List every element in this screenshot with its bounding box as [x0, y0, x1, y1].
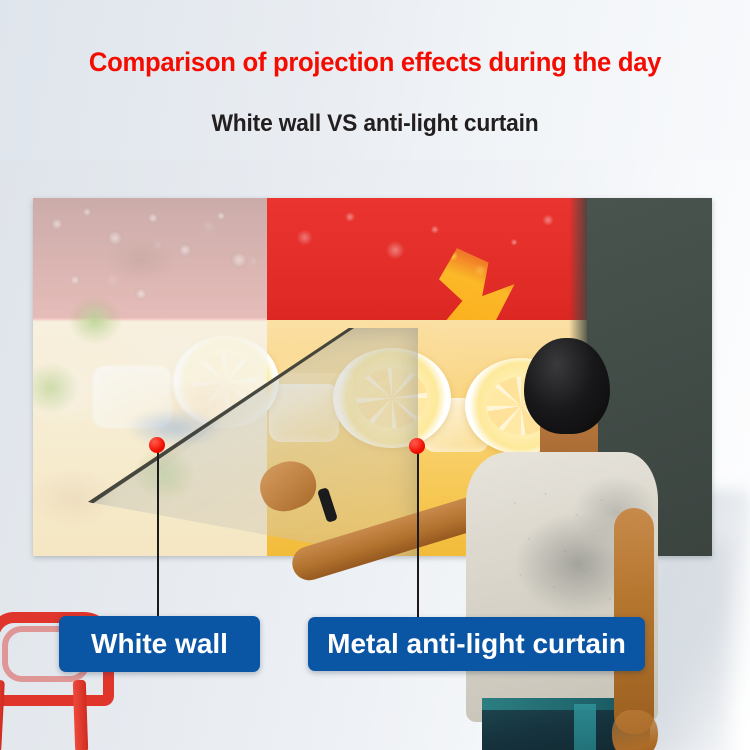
callout-metal-anti-light-curtain[interactable]: Metal anti-light curtain [308, 617, 645, 671]
leader-line-white-wall [157, 450, 159, 622]
marker-dot-white-wall [149, 437, 165, 453]
page-title: Comparison of projection effects during … [19, 47, 732, 78]
person-figure [398, 312, 658, 750]
chair-leg [0, 680, 5, 750]
callout-white-wall[interactable]: White wall [59, 616, 260, 672]
shorts-teal-panel [574, 704, 596, 750]
marker-dot-curtain [409, 438, 425, 454]
leader-line-curtain [417, 452, 419, 624]
screenshot-root: Comparison of projection effects during … [0, 0, 750, 750]
page-subtitle: White wall VS anti-light curtain [19, 110, 732, 138]
head [524, 338, 610, 434]
chair-leg [73, 680, 89, 750]
condensation-droplets [33, 198, 267, 338]
hand-fist [612, 710, 658, 750]
